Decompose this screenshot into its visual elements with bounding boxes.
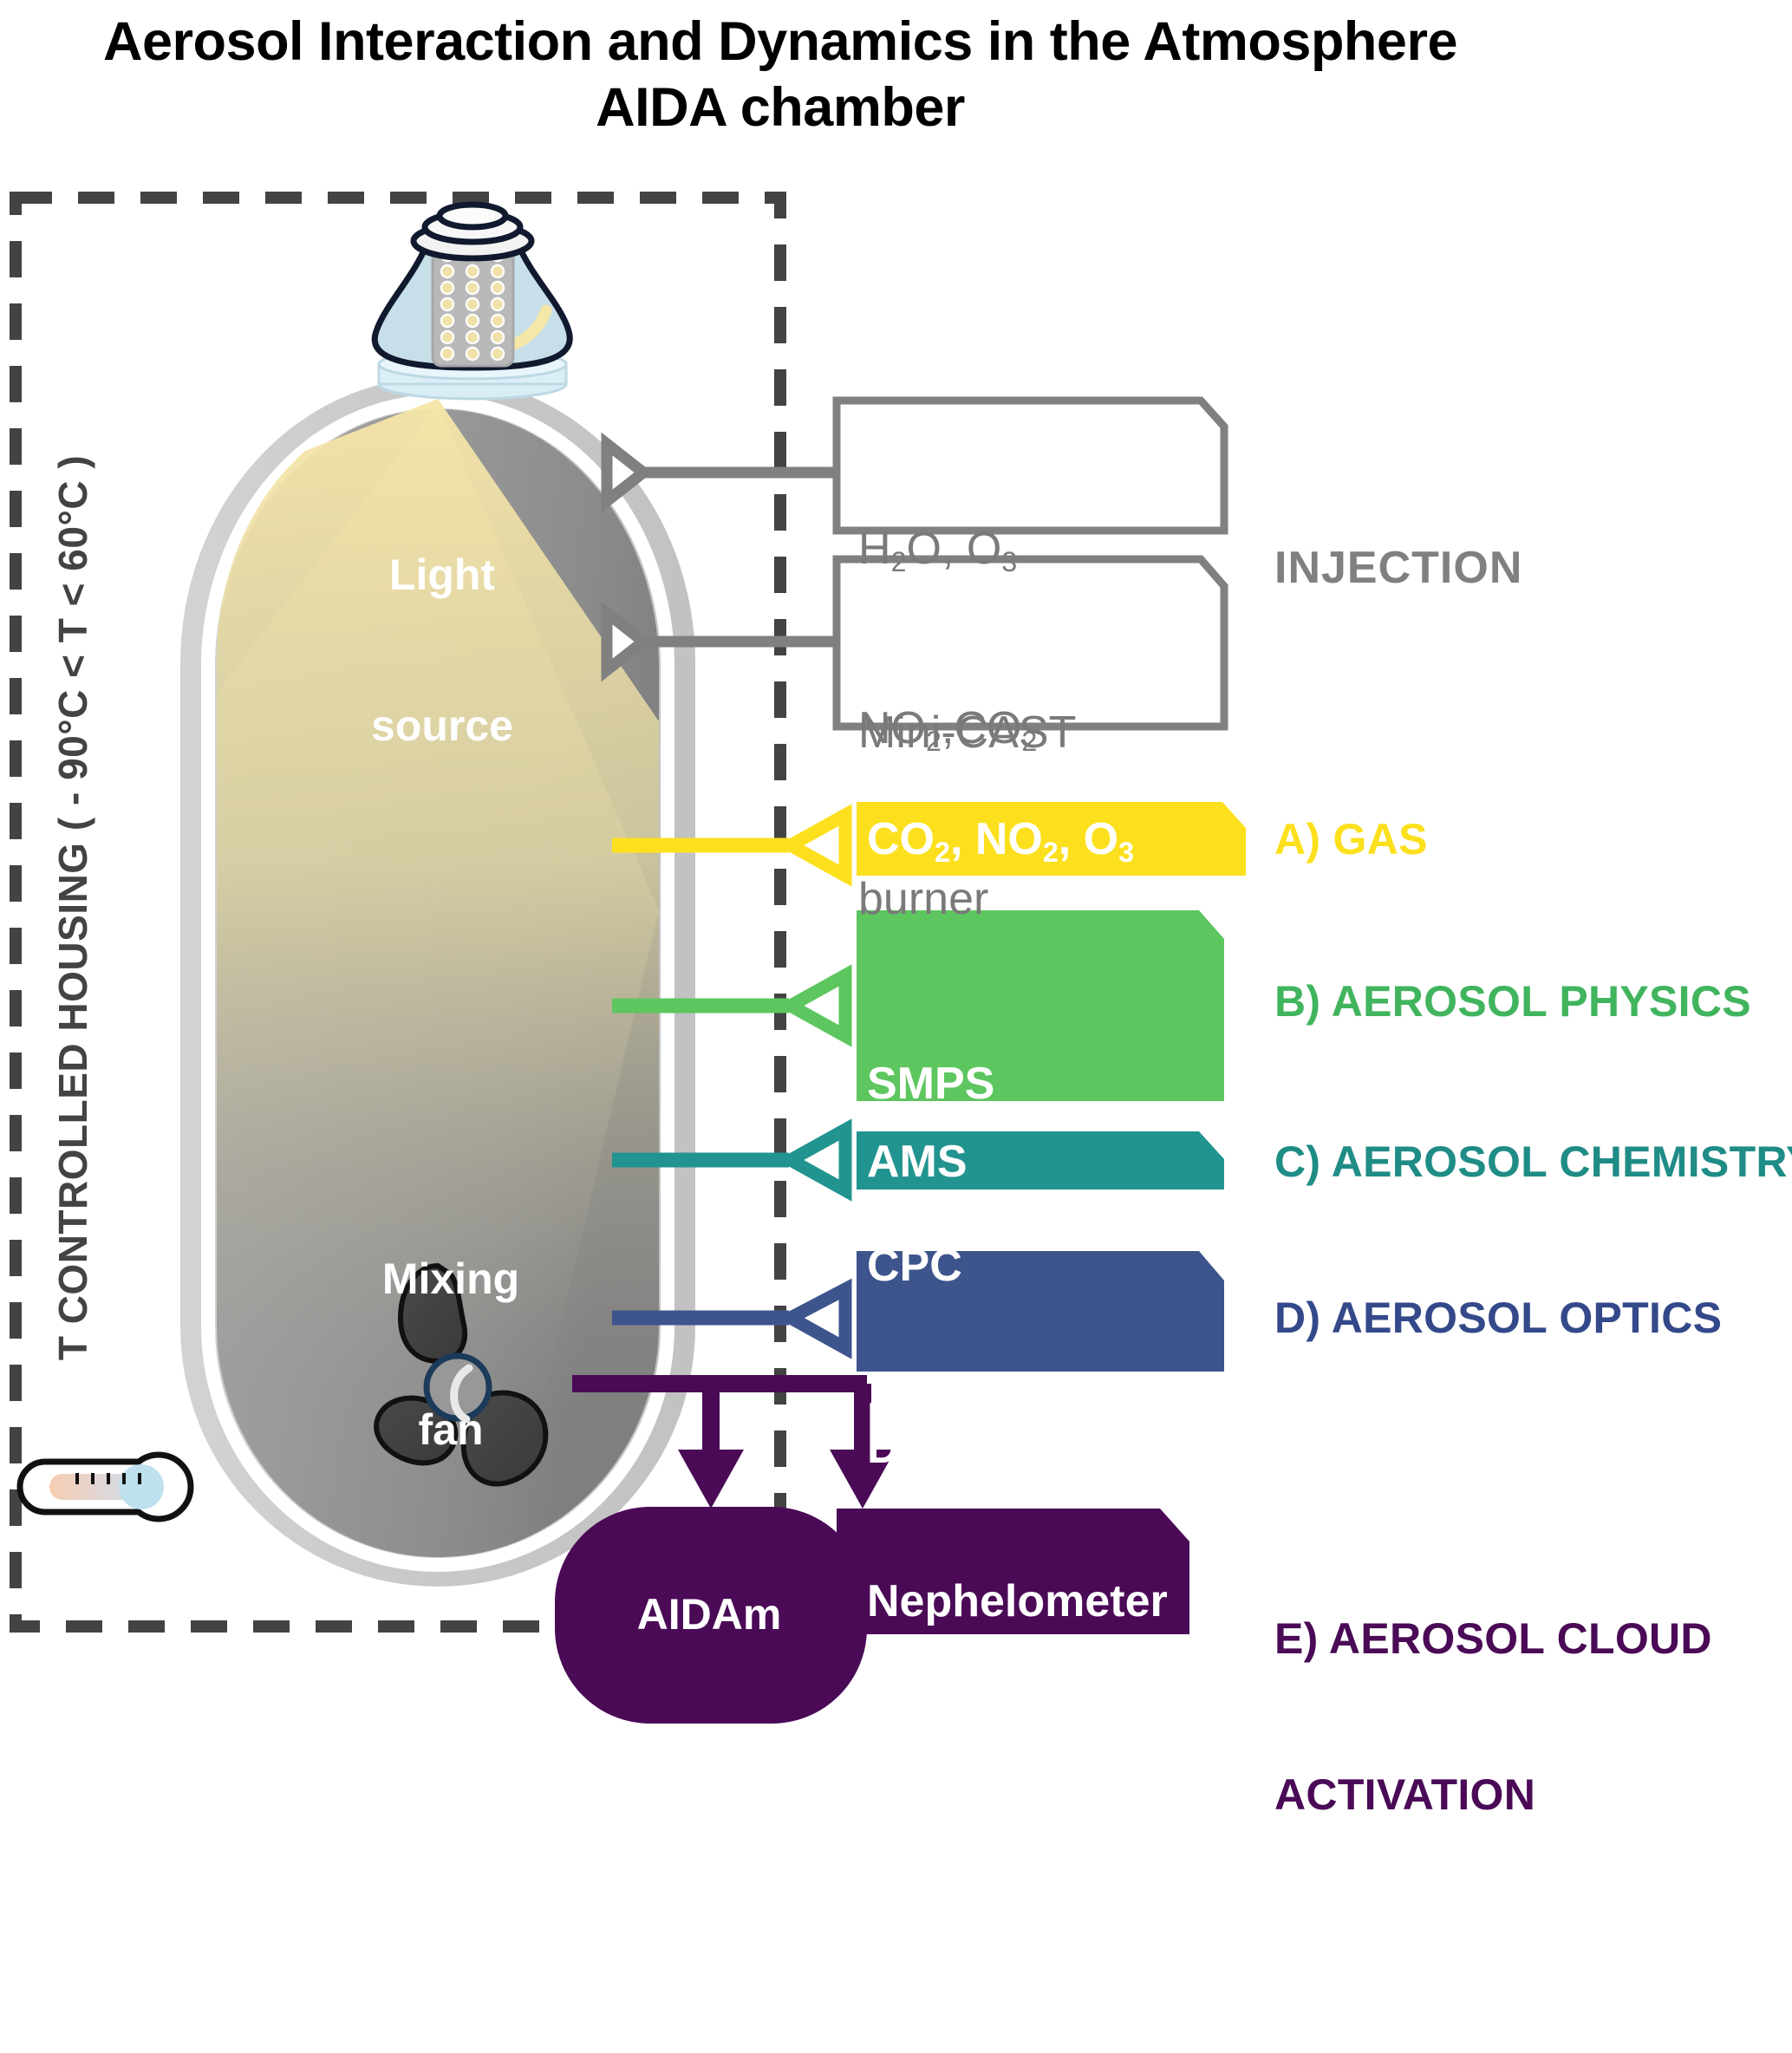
housing-label: T CONTROLLED HOUSING ( - 90°C < T < 60°C…: [49, 370, 96, 1445]
category-label-aerosol-chemistry: C) AEROSOL CHEMISTRY: [1274, 1136, 1792, 1188]
mixing-fan-label-line2: fan: [351, 1405, 551, 1455]
aerosol-physics-line-0: SMPS: [867, 1053, 1185, 1114]
light-source-label: Light source: [334, 449, 551, 851]
led-lamp-icon: [375, 205, 570, 399]
injection-burner-line1: Mini-CAST: [858, 705, 1076, 760]
aerosol-cloud-activation-box-text: CCNC INKA: [867, 1526, 997, 2053]
category-label-aerosol-optics: D) AEROSOL OPTICS: [1274, 1292, 1722, 1344]
injection-heading: INJECTION: [1274, 542, 1522, 594]
light-source-label-line2: source: [334, 701, 551, 751]
diagram-canvas: Aerosol Interaction and Dynamics in the …: [0, 0, 1792, 1641]
category-label-aerosol-physics: B) AEROSOL PHYSICS: [1274, 975, 1751, 1027]
mixing-fan-label: Mixing fan: [351, 1153, 551, 1555]
gas-box-text: CO2, NO2, O3: [867, 813, 1134, 878]
aerosol-optics-line-0: PAAS: [867, 1389, 1168, 1450]
light-source-label-line1: Light: [334, 550, 551, 600]
injection-gases-line1: H2O, O3: [858, 521, 1037, 590]
thermometer-icon: [20, 1455, 191, 1519]
category-label-aerosol-cloud-activation: E) AEROSOL CLOUD ACTIVATION: [1274, 1509, 1792, 1925]
category-label-cloud-line1: E) AEROSOL CLOUD: [1274, 1613, 1792, 1665]
aerosol-cloud-line-1: INKA: [867, 1855, 997, 1921]
aerosol-cloud-line-0: CCNC: [867, 1658, 997, 1724]
injection-burner-line2: burner: [858, 871, 1076, 927]
category-label-cloud-line2: ACTIVATION: [1274, 1769, 1792, 1821]
mixing-fan-label-line1: Mixing: [351, 1254, 551, 1304]
category-label-gas: A) GAS: [1274, 813, 1428, 865]
aerosol-chemistry-box-text: AMS: [867, 1136, 968, 1188]
aidam-label: AIDAm: [579, 1589, 839, 1639]
